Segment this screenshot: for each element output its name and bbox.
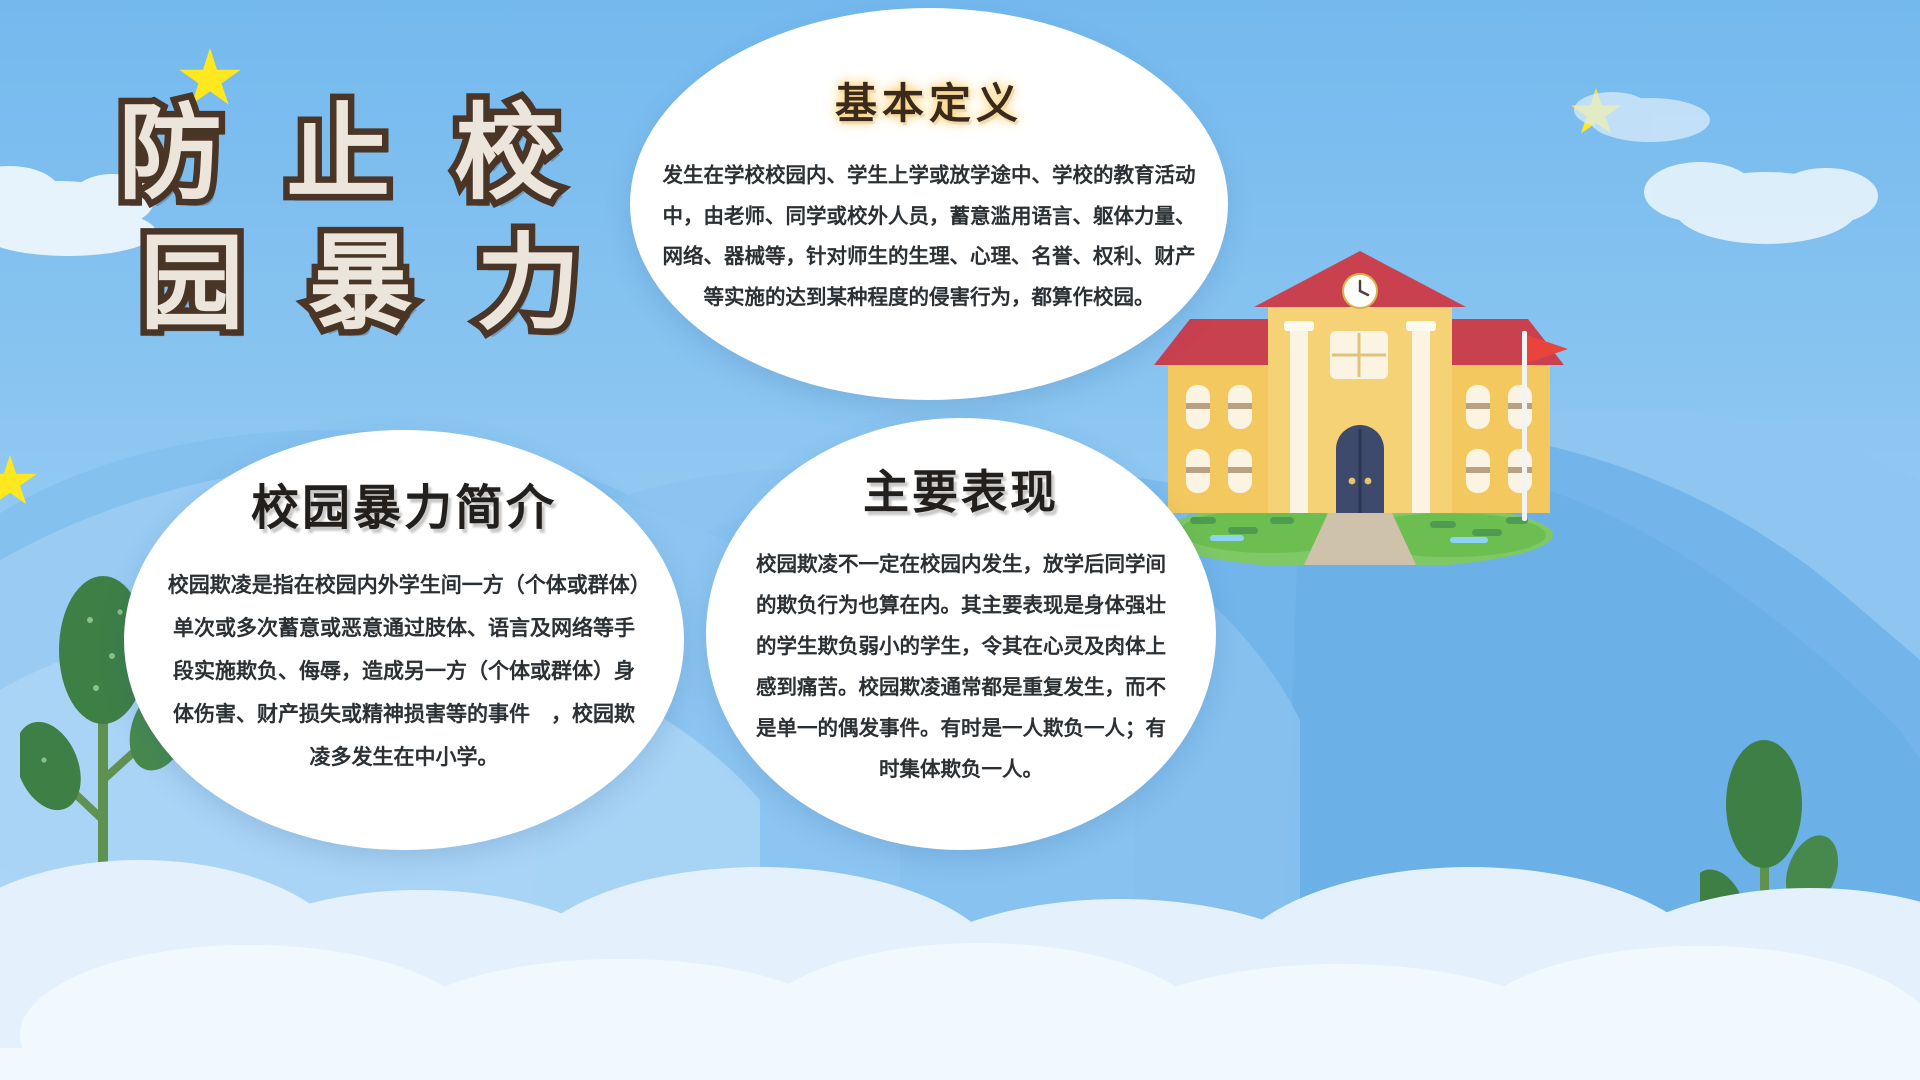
card-intro-body: 校园欺凌是指在校园内外学生间一方（个体或群体）单次或多次蓄意或恶意通过肢体、语言… [164, 564, 644, 779]
card-manifestation-body: 校园欺凌不一定在校园内发生，放学后同学间的欺负行为也算在内。其主要表现是身体强壮… [751, 544, 1171, 790]
card-manifestation-heading: 主要表现 [863, 456, 1059, 522]
card-definition[interactable]: 基本定义 发生在学校校园内、学生上学或放学途中、学校的教育活动中，由老师、同学或… [630, 8, 1228, 400]
card-manifestation[interactable]: 主要表现 校园欺凌不一定在校园内发生，放学后同学间的欺负行为也算在内。其主要表现… [706, 418, 1216, 850]
card-definition-heading: 基本定义 [835, 70, 1023, 131]
card-intro-heading: 校园暴力简介 [251, 468, 557, 538]
title-line-2: 园 暴 力 [140, 218, 538, 348]
poster-canvas: 防 止 校 园 暴 力 基本定义 发生在学校校园内、学生上学或放学途中、学校的教… [0, 0, 1920, 1080]
title-line-1: 防 止 校 [118, 88, 538, 218]
card-intro[interactable]: 校园暴力简介 校园欺凌是指在校园内外学生间一方（个体或群体）单次或多次蓄意或恶意… [124, 430, 684, 850]
poster-title: 防 止 校 园 暴 力 [118, 88, 538, 348]
card-definition-body: 发生在学校校园内、学生上学或放学途中、学校的教育活动中，由老师、同学或校外人员，… [659, 155, 1199, 317]
